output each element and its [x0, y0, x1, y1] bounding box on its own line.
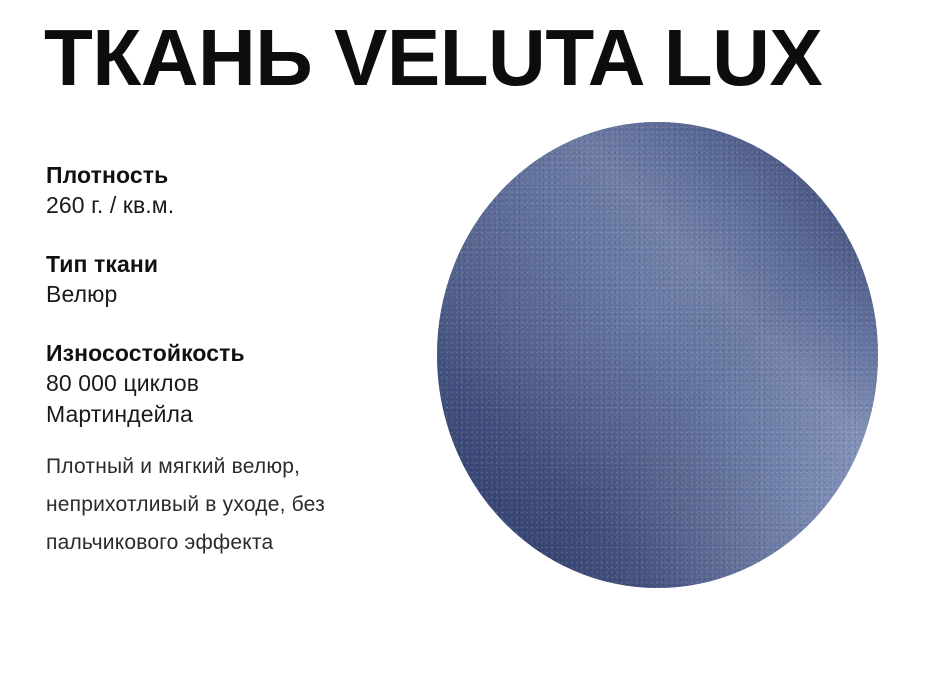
fabric-spec-card: ТКАНЬ VELUTA LUX Плотность 260 г. / кв.м… — [0, 0, 934, 700]
spec-value-abrasion-resistance: 80 000 циклов — [46, 368, 426, 399]
spec-item-abrasion-resistance: Износостойкость 80 000 циклов Мартиндейл… — [46, 338, 426, 430]
fabric-description: Плотный и мягкий велюр, неприхотливый в … — [46, 448, 436, 562]
spec-list: Плотность 260 г. / кв.м. Тип ткани Велюр… — [46, 160, 426, 430]
spec-label-abrasion-resistance: Износостойкость — [46, 338, 426, 368]
spec-value-fabric-type: Велюр — [46, 279, 426, 310]
page-title: ТКАНЬ VELUTA LUX — [44, 12, 822, 104]
spec-value-density: 260 г. / кв.м. — [46, 190, 426, 221]
spec-label-fabric-type: Тип ткани — [46, 249, 426, 279]
spec-label-density: Плотность — [46, 160, 426, 190]
spec-item-fabric-type: Тип ткани Велюр — [46, 249, 426, 310]
spec-value-abrasion-resistance-line2: Мартиндейла — [46, 399, 426, 430]
swatch-velour-grain — [437, 122, 878, 588]
spec-item-density: Плотность 260 г. / кв.м. — [46, 160, 426, 221]
fabric-swatch-image — [437, 122, 878, 588]
